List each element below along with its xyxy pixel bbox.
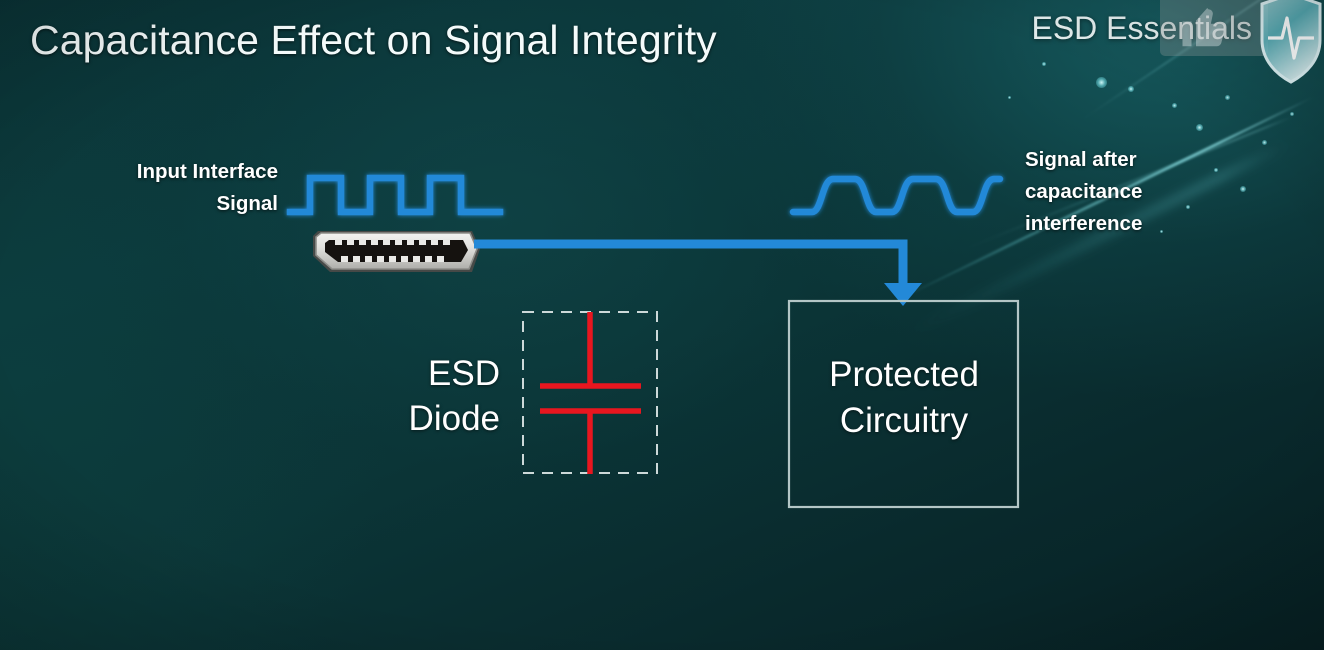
input-waveform-square [290,178,500,212]
circuit-diagram [0,0,1324,650]
signal-trace [474,244,922,306]
output-waveform-rounded [793,179,1000,212]
esd-diode-block [523,312,657,474]
ground-symbol-right [879,545,930,568]
signal-flow-arrow [884,283,922,306]
esd-diode-label: ESD Diode [390,352,500,442]
hdmi-connector [313,231,480,272]
ground-symbol-left [565,545,616,568]
slide-canvas: Capacitance Effect on Signal Integrity E… [0,0,1324,650]
protected-circuitry-label: Protected Circuitry [790,352,1018,444]
